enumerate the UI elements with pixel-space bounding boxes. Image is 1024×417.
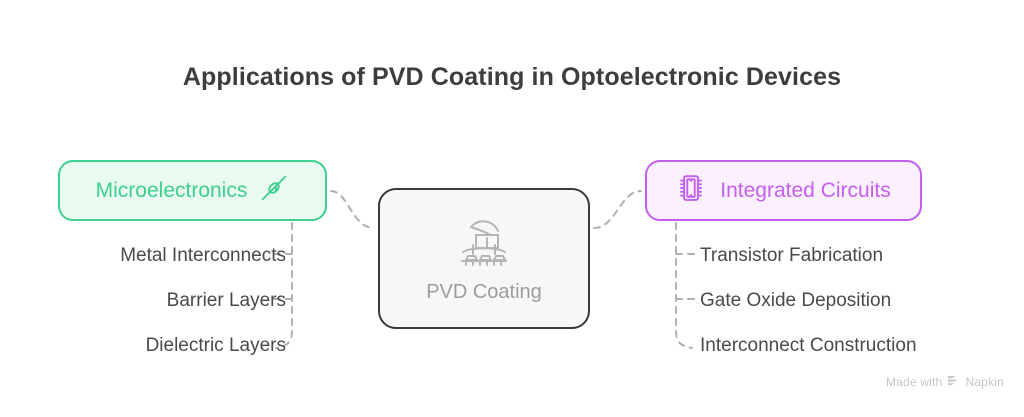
napkin-watermark: Made with Napkin — [886, 374, 1004, 390]
spine-right — [676, 223, 692, 348]
microchip-icon — [676, 173, 706, 208]
circuit-diode-icon — [259, 173, 289, 208]
leaf-item-transistor-fabrication[interactable]: Transistor Fabrication — [700, 245, 883, 267]
leaf-item-metal-interconnects[interactable]: Metal Interconnects — [120, 245, 286, 267]
connector-left-to-center — [331, 191, 374, 228]
branch-node-label: Integrated Circuits — [720, 179, 890, 203]
diagram-canvas: Applications of PVD Coating in Optoelect… — [0, 0, 1024, 417]
center-node-label: PVD Coating — [426, 281, 542, 304]
watermark-brand-label: Napkin — [965, 375, 1004, 389]
leaf-item-dielectric-layers[interactable]: Dielectric Layers — [146, 335, 286, 357]
leaf-item-interconnect-construction[interactable]: Interconnect Construction — [700, 335, 917, 357]
watermark-prefix-label: Made with — [886, 375, 943, 389]
spine-left — [276, 223, 292, 348]
branch-node-label: Microelectronics — [96, 179, 248, 203]
page-title: Applications of PVD Coating in Optoelect… — [0, 63, 1024, 92]
leaf-item-barrier-layers[interactable]: Barrier Layers — [167, 290, 286, 312]
coating-machine-icon — [453, 214, 515, 275]
branch-node-integrated-circuits[interactable]: Integrated Circuits — [645, 160, 922, 221]
leaf-item-gate-oxide-deposition[interactable]: Gate Oxide Deposition — [700, 290, 891, 312]
center-node-pvd-coating[interactable]: PVD Coating — [378, 188, 590, 329]
connector-center-to-right — [594, 191, 641, 228]
branch-node-microelectronics[interactable]: Microelectronics — [58, 160, 327, 221]
napkin-logo-icon — [947, 374, 960, 390]
